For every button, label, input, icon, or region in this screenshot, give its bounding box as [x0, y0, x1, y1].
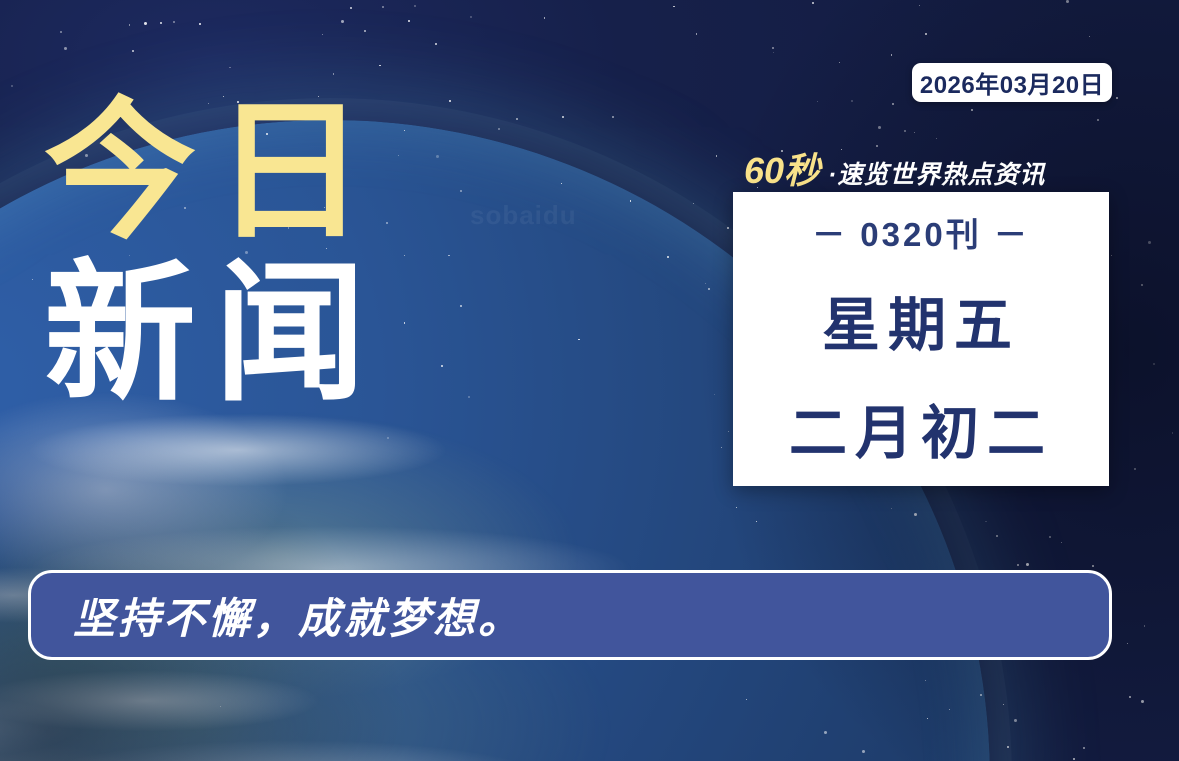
date-badge: 2026年03月20日 — [912, 63, 1112, 102]
issue-card: － 0320刊 － 星期五 二月初二 — [733, 192, 1109, 486]
brand-title: 今日 新闻 — [44, 96, 484, 410]
weekday-label: 星期五 — [822, 278, 1020, 362]
tagline-highlight: 60秒 — [744, 142, 820, 194]
issue-number: － 0320刊 － — [812, 208, 1030, 256]
brand-title-line-2: 新闻 — [44, 258, 484, 410]
watermark-text: sobaidu — [470, 200, 577, 231]
slogan-bar: 坚持不懈，成就梦想。 — [28, 570, 1112, 660]
tagline: 60秒 ·速览世界热点资讯 — [744, 142, 1045, 194]
brand-title-line-1: 今日 — [44, 96, 484, 248]
tagline-description: ·速览世界热点资讯 — [828, 155, 1045, 191]
lunar-date-label: 二月初二 — [789, 386, 1053, 470]
news-poster: sobaidu 今日 新闻 2026年03月20日 60秒 ·速览世界热点资讯 … — [0, 0, 1179, 761]
slogan-text: 坚持不懈，成就梦想。 — [73, 585, 523, 646]
